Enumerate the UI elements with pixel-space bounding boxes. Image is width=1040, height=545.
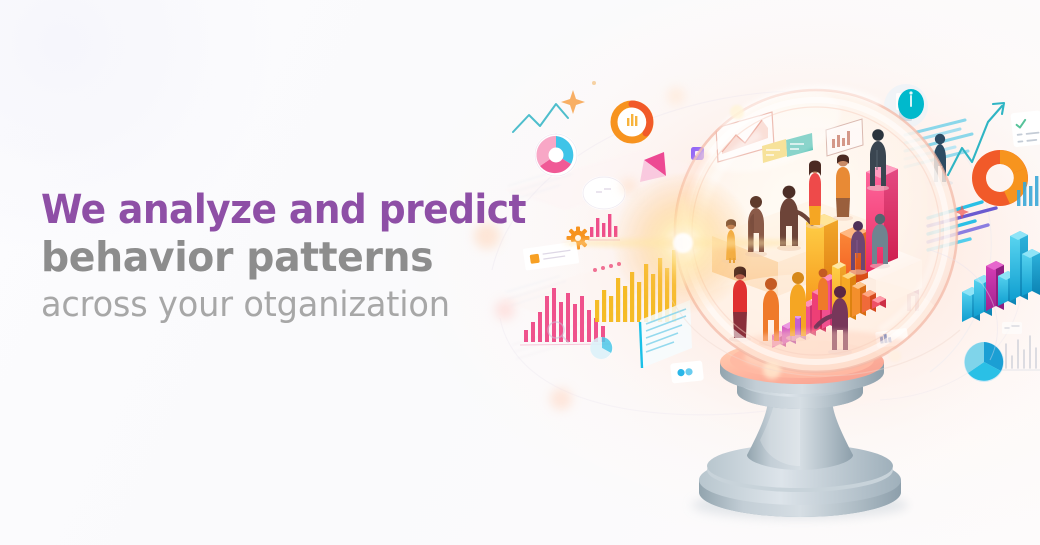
pie-chart-small-icon (590, 337, 613, 359)
donut-chart-orange-icon (611, 101, 653, 143)
headline-line-1: We analyze and predict (41, 188, 483, 232)
pie-chart-cyan-icon (964, 342, 1004, 382)
headline-line-2: behavior patterns (41, 233, 492, 281)
headline-line-3: across your otganization (41, 283, 492, 327)
figure-orange-small (818, 269, 828, 310)
donut-chart-pink-cyan-icon (534, 133, 578, 177)
headline-block: We analyze and predict behavior patterns… (41, 188, 511, 327)
badge-teal-icon (898, 89, 924, 119)
checklist-card-icon (1010, 110, 1040, 147)
chip-badge-icon (670, 360, 704, 383)
tag-small-icon (1002, 322, 1022, 334)
oval-badge-icon (582, 176, 626, 210)
hero-banner: We analyze and predict behavior patterns… (0, 0, 1040, 545)
